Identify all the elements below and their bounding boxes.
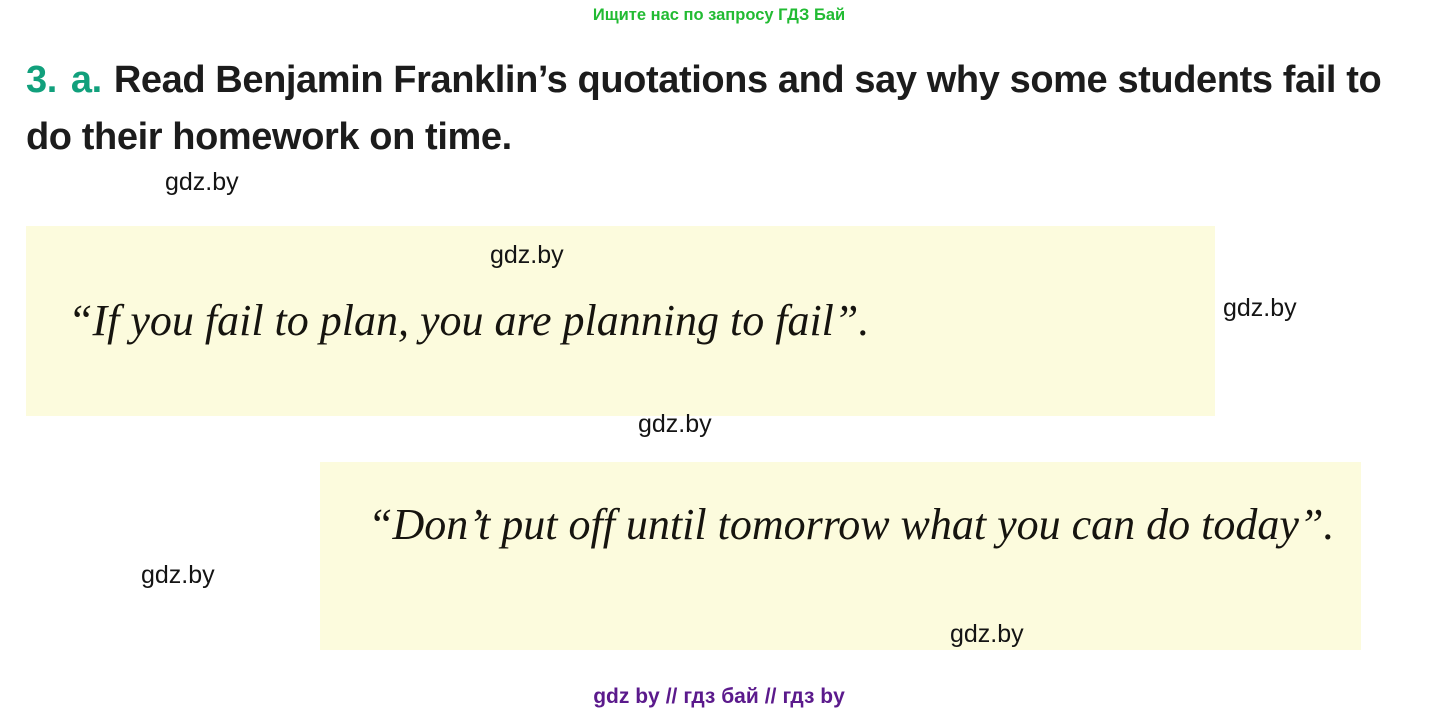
watermark: gdz.by bbox=[638, 412, 712, 437]
footer-label-left: gdz by bbox=[593, 685, 660, 708]
footer-label-middle: гдз бай bbox=[683, 685, 758, 708]
task-instruction: Read Benjamin Franklin’s quotations and … bbox=[26, 59, 1381, 158]
watermark: gdz.by bbox=[490, 243, 564, 268]
site-footer: gdz by//гдз бай//гдз by bbox=[0, 685, 1438, 709]
task-number: 3. bbox=[26, 59, 57, 101]
quotation-panel-1: “If you fail to plan, you are planning t… bbox=[26, 226, 1215, 416]
footer-separator: // bbox=[666, 685, 678, 708]
promo-banner: Ищите нас по запросу ГДЗ Бай bbox=[0, 0, 1438, 30]
footer-separator: // bbox=[765, 685, 777, 708]
watermark: gdz.by bbox=[1223, 296, 1297, 321]
quotation-text-2: “Don’t put off until tomorrow what you c… bbox=[368, 492, 1348, 558]
watermark: gdz.by bbox=[165, 170, 239, 195]
task-letter: a. bbox=[71, 59, 102, 101]
quotation-panel-2: “Don’t put off until tomorrow what you c… bbox=[320, 462, 1361, 650]
footer-label-right: гдз by bbox=[782, 685, 844, 708]
watermark: gdz.by bbox=[141, 563, 215, 588]
quotation-text-1: “If you fail to plan, you are planning t… bbox=[68, 288, 1198, 354]
page-title: 3.a.Read Benjamin Franklin’s quotations … bbox=[26, 52, 1406, 166]
watermark: gdz.by bbox=[950, 622, 1024, 647]
